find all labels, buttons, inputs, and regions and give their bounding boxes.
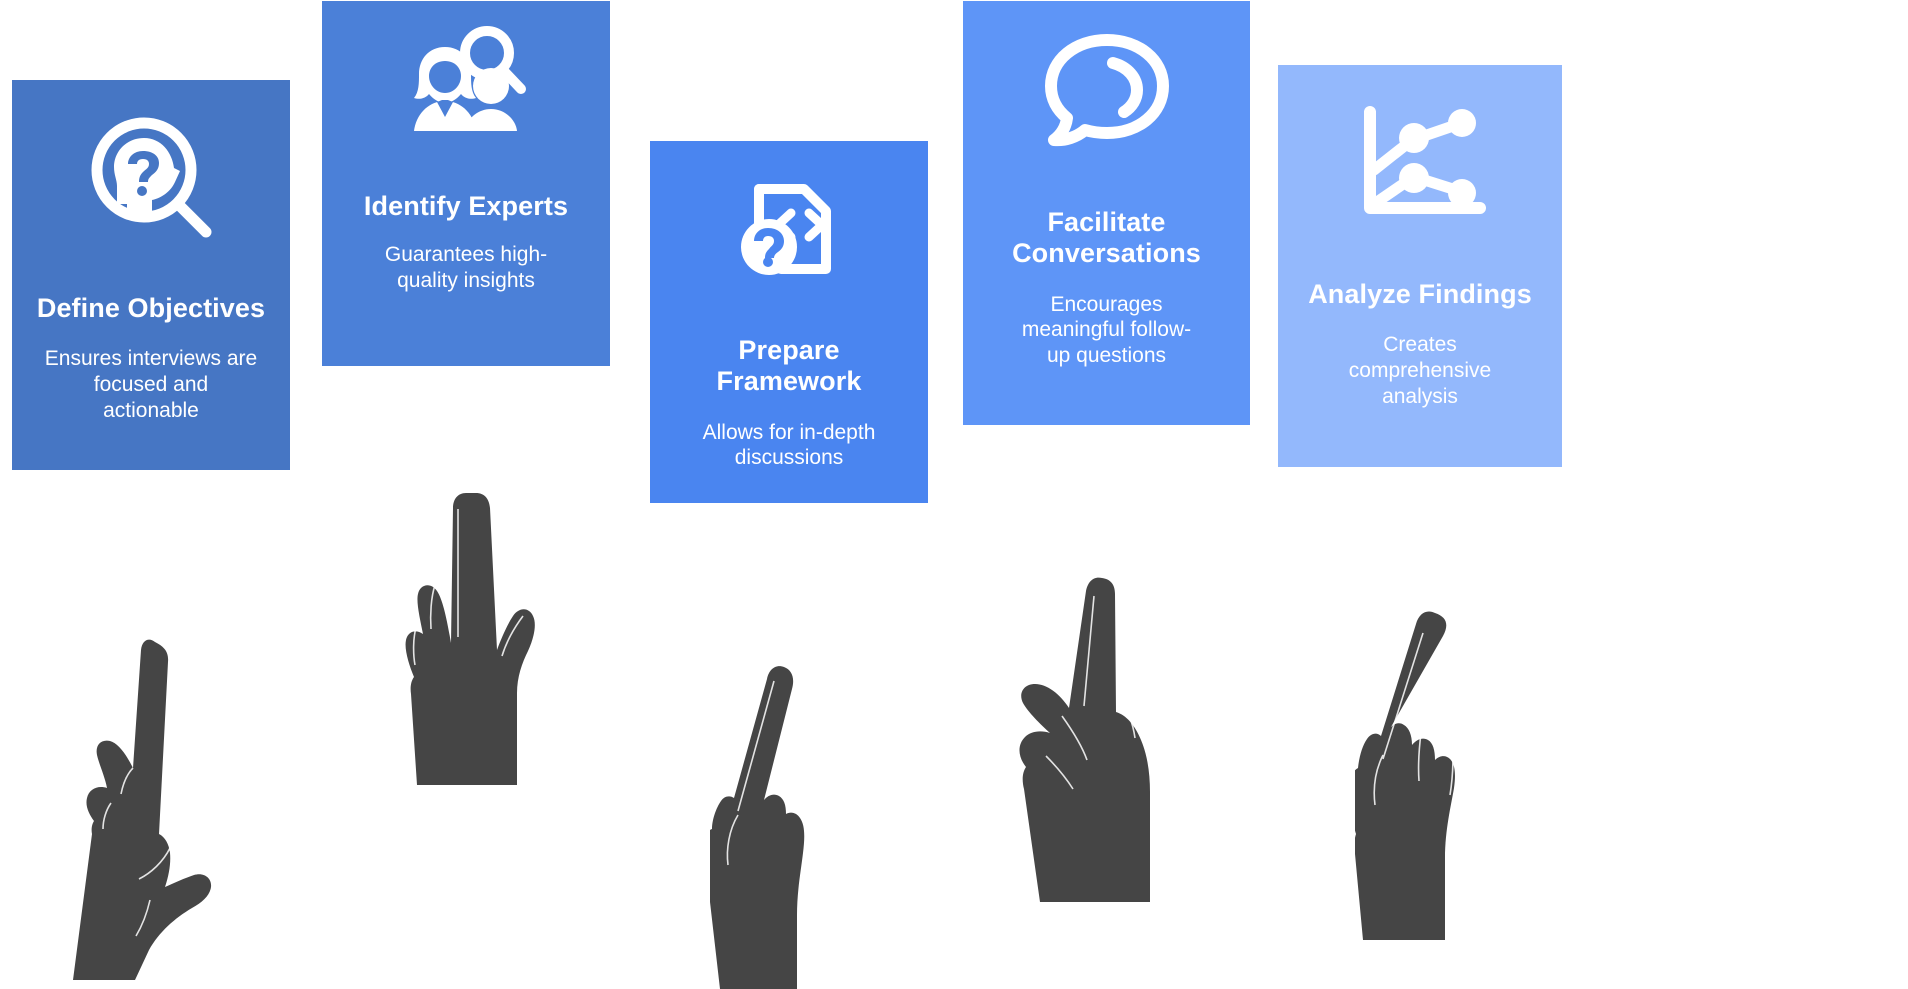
card-title: Analyze Findings [1308, 279, 1532, 310]
head-question-magnifier-icon [86, 112, 216, 247]
card-description: Ensures interviews are focused and actio… [44, 346, 259, 423]
card-description: Creates comprehensive analysis [1333, 332, 1508, 409]
card-title: Identify Experts [364, 191, 568, 222]
card-prepare-framework[interactable]: Prepare Framework Allows for in-depth di… [650, 141, 928, 503]
code-document-question-icon [729, 169, 849, 299]
card-description: Guarantees high-quality insights [364, 242, 569, 293]
pointing-hand-icon [400, 485, 560, 785]
pointing-hand-icon [1355, 605, 1510, 940]
speech-bubble-icon [1037, 25, 1177, 165]
card-title: Prepare Framework [699, 335, 879, 398]
card-analyze-findings[interactable]: Analyze Findings Creates comprehensive a… [1278, 65, 1562, 467]
scatter-chart-icon [1350, 98, 1490, 233]
pointing-hand-icon [55, 600, 235, 989]
infographic-canvas: Define Objectives Ensures interviews are… [0, 0, 1908, 989]
pointing-hand-icon [1010, 570, 1185, 910]
people-search-icon [404, 23, 529, 153]
card-description: Allows for in-depth discussions [677, 420, 902, 471]
card-title: Define Objectives [37, 293, 265, 324]
pointing-hand-icon [710, 655, 860, 989]
card-facilitate-conversations[interactable]: Facilitate Conversations Encourages mean… [963, 1, 1250, 425]
card-define-objectives[interactable]: Define Objectives Ensures interviews are… [12, 80, 290, 470]
card-identify-experts[interactable]: Identify Experts Guarantees high-quality… [322, 1, 610, 366]
card-title: Facilitate Conversations [999, 207, 1214, 270]
card-description: Encourages meaningful follow-up question… [1012, 292, 1202, 369]
